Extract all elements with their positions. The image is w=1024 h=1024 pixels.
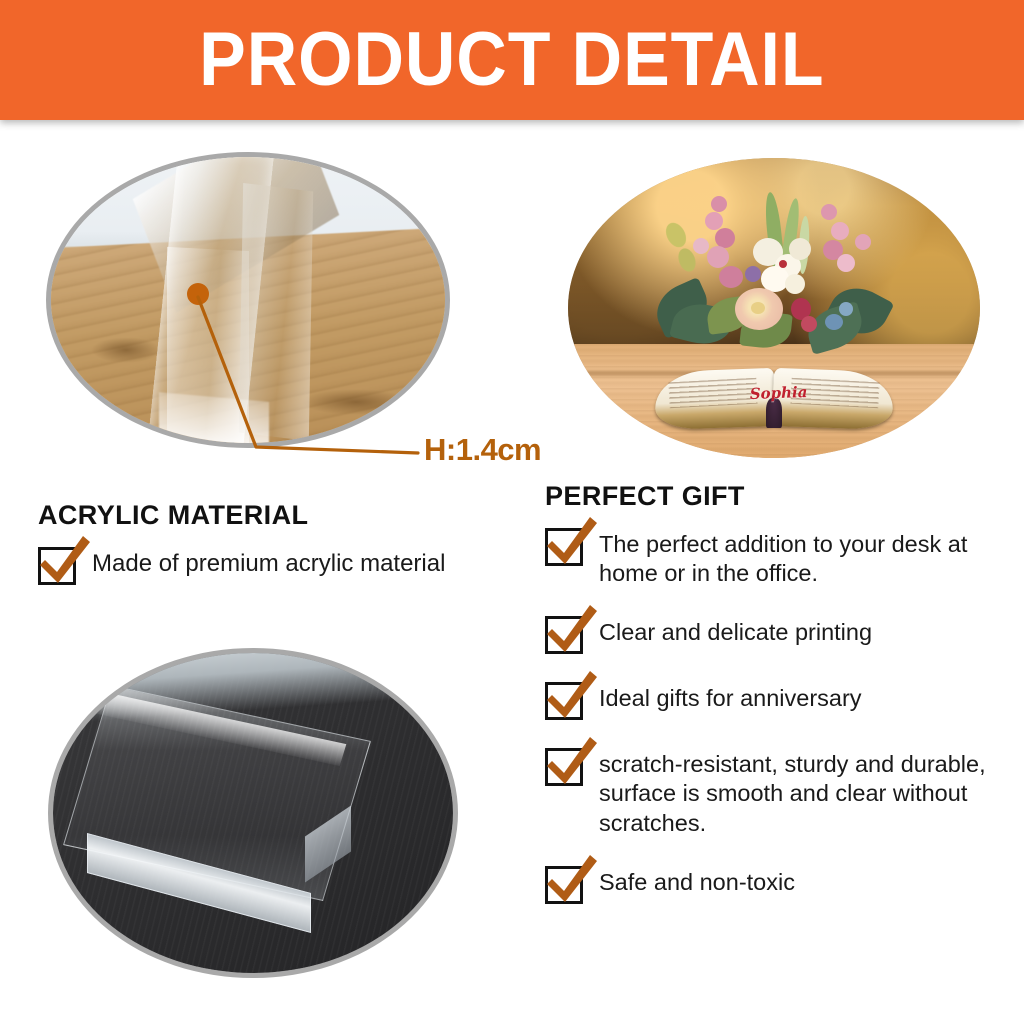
list-item: Made of premium acrylic material [38,545,518,585]
section-heading-perfect-gift: PERFECT GIFT [545,481,745,512]
list-item-label: Safe and non-toxic [599,864,795,897]
slate-surface [53,653,453,973]
blue-flower [839,302,853,316]
book-spine [766,398,782,428]
flower-bud [693,238,709,254]
flower-bud [715,228,735,248]
page-title: PRODUCT DETAIL [199,22,824,98]
list-item-label: Clear and delicate printing [599,614,872,647]
checkbox-checked-icon [545,682,583,720]
flower-bud [855,234,871,250]
acrylic-block-on-slate-photo [48,648,458,978]
list-item: scratch-resistant, sturdy and durable, s… [545,746,1015,837]
berry-cluster [801,316,817,332]
book-page-text-lines [668,378,757,409]
flower-bud [821,204,837,220]
wood-table-scene [51,157,445,443]
height-callout-label: H:1.4cm [424,432,541,468]
checkbox-checked-icon [545,616,583,654]
checkbox-checked-icon [545,866,583,904]
flower-bud [837,254,855,272]
accent-flower [745,266,761,282]
flower-bud [711,196,727,212]
white-flower [789,238,811,260]
list-item: Clear and delicate printing [545,614,1015,654]
personalized-name-text: Sophia [749,383,807,403]
open-book: Sophia [655,362,893,428]
feature-list-perfect-gift: The perfect addition to your desk at hom… [545,526,1015,930]
checkbox-checked-icon [545,528,583,566]
page-header-banner: PRODUCT DETAIL [0,0,1024,120]
list-item-label: Made of premium acrylic material [92,545,445,579]
height-callout-dot [187,283,209,305]
checkbox-checked-icon [38,547,76,585]
feature-list-acrylic-material: Made of premium acrylic material [38,545,518,611]
flower-spray [662,219,690,250]
flower-center [779,260,787,268]
list-item: The perfect addition to your desk at hom… [545,526,1015,588]
floral-bouquet [649,182,899,362]
acrylic-edge-on-wood-photo [46,152,450,448]
blue-flower [825,314,843,330]
list-item-label: The perfect addition to your desk at hom… [599,526,1015,588]
open-book-with-flowers: Sophia [634,182,914,432]
flower-bud [707,246,729,268]
list-item-label: Ideal gifts for anniversary [599,680,862,713]
checkbox-checked-icon [545,748,583,786]
list-item-label: scratch-resistant, sturdy and durable, s… [599,746,1015,837]
flower-bud [719,266,743,288]
acrylic-base-highlight [159,392,269,448]
white-flower [785,274,805,294]
list-item: Safe and non-toxic [545,864,1015,904]
wood-knot [91,337,161,363]
flower-center [751,302,765,314]
flower-book-product-photo: Sophia [568,158,980,458]
flower-bud [831,222,849,240]
clear-acrylic-block [87,713,387,933]
flower-bud [705,212,723,230]
wood-knot [301,389,411,415]
list-item: Ideal gifts for anniversary [545,680,1015,720]
section-heading-acrylic-material: ACRYLIC MATERIAL [38,500,308,531]
